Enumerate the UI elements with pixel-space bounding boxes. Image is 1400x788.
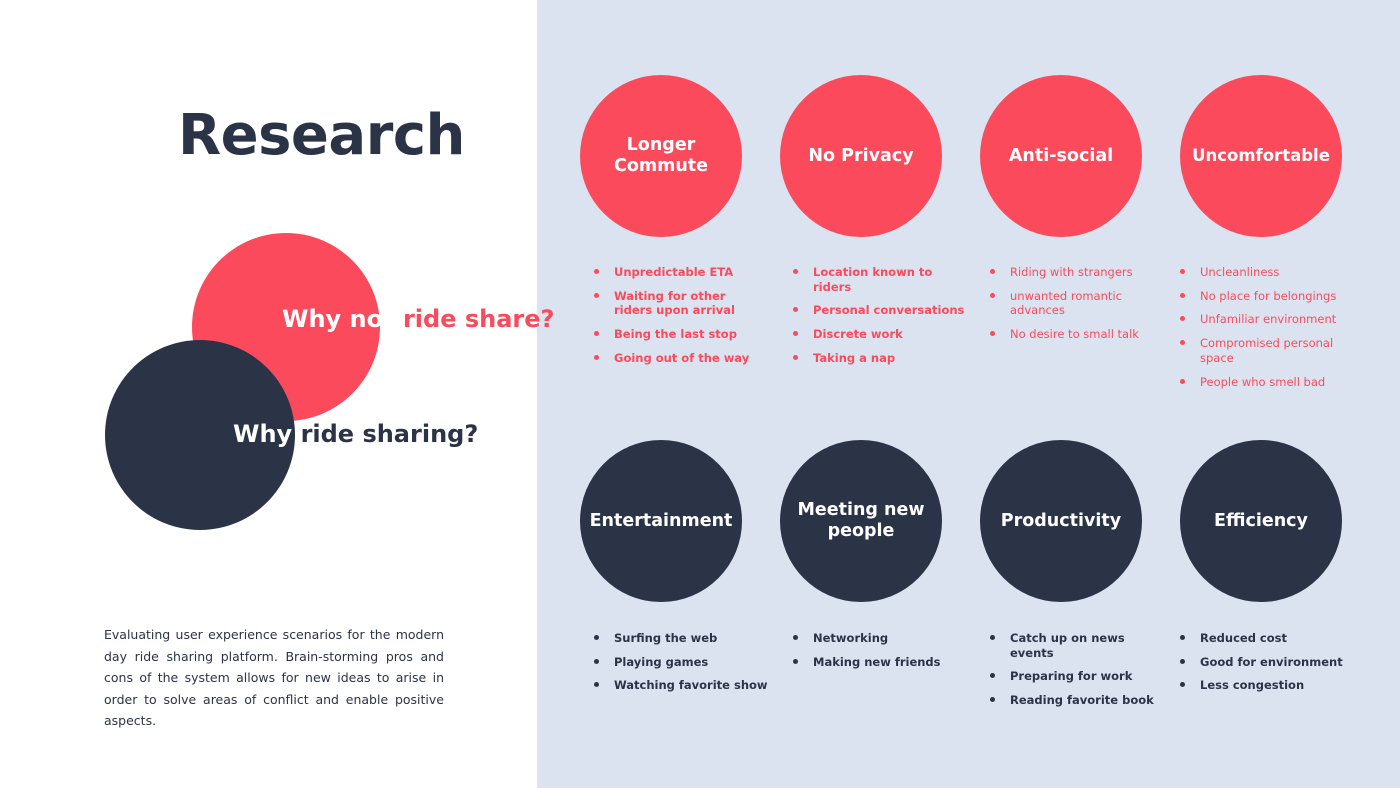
bubble-label: Longer Commute <box>580 135 742 177</box>
bubble-meeting-new-people[interactable]: Meeting new people <box>780 440 942 602</box>
venn-circle-pros <box>105 340 295 530</box>
list-item: Unfamiliar environment <box>1180 312 1355 327</box>
list-item: Riding with strangers <box>990 265 1160 280</box>
list-item: Less congestion <box>1180 678 1360 693</box>
venn-diagram: Why not ride share? Why ride sharing? <box>0 0 537 600</box>
list-item: Catch up on news events <box>990 631 1170 660</box>
list-item: Going out of the way <box>594 351 764 366</box>
bubble-longer-commute[interactable]: Longer Commute <box>580 75 742 237</box>
bubble-label: Productivity <box>993 511 1129 532</box>
pros-list-4: Reduced cost Good for environment Less c… <box>1180 631 1360 702</box>
list-item: Networking <box>793 631 968 646</box>
cons-list-4: Uncleanliness No place for belongings Un… <box>1180 265 1355 398</box>
list-item: Surfing the web <box>594 631 769 646</box>
venn-label-top-outside: ride share? <box>403 305 554 333</box>
list-item: Personal conversations <box>793 303 968 318</box>
venn-circle-cons <box>192 233 380 421</box>
list-item: Watching favorite show <box>594 678 769 693</box>
list-item: Discrete work <box>793 327 968 342</box>
venn-label-bottom-outside: ride sharing? <box>301 420 479 448</box>
list-item: Playing games <box>594 655 769 670</box>
bubble-productivity[interactable]: Productivity <box>980 440 1142 602</box>
list-item: Waiting for other riders upon arrival <box>594 289 764 318</box>
venn-label-top-inside: Why not <box>282 305 395 333</box>
pros-list-1: Surfing the web Playing games Watching f… <box>594 631 769 702</box>
bubble-label: Efficiency <box>1206 511 1316 532</box>
bubble-entertainment[interactable]: Entertainment <box>580 440 742 602</box>
description-paragraph: Evaluating user experience scenarios for… <box>104 624 444 732</box>
bubble-label: Anti-social <box>1001 146 1121 167</box>
list-item: unwanted romantic advances <box>990 289 1160 318</box>
list-item: Being the last stop <box>594 327 764 342</box>
list-item: No place for belongings <box>1180 289 1355 304</box>
bubble-uncomfortable[interactable]: Uncomfortable <box>1180 75 1342 237</box>
list-item: Good for environment <box>1180 655 1360 670</box>
bubble-label: Meeting new people <box>780 500 942 542</box>
bubble-anti-social[interactable]: Anti-social <box>980 75 1142 237</box>
venn-label-why-ride-sharing: Why ride sharing? <box>233 422 478 446</box>
list-item: Unpredictable ETA <box>594 265 764 280</box>
list-item: Reduced cost <box>1180 631 1360 646</box>
list-item: People who smell bad <box>1180 375 1355 390</box>
cons-list-1: Unpredictable ETA Waiting for other ride… <box>594 265 764 375</box>
pros-list-3: Catch up on news events Preparing for wo… <box>990 631 1170 717</box>
cons-list-2: Location known to riders Personal conver… <box>793 265 968 375</box>
left-panel: Research Why not ride share? Why ride sh… <box>0 0 537 788</box>
bubble-label: No Privacy <box>800 146 921 167</box>
list-item: Taking a nap <box>793 351 968 366</box>
list-item: Making new friends <box>793 655 968 670</box>
right-panel: Longer Commute Unpredictable ETA Waiting… <box>537 0 1400 788</box>
venn-label-why-not-ride-share: Why not ride share? <box>282 307 554 331</box>
list-item: Location known to riders <box>793 265 968 294</box>
list-item: Compromised personal space <box>1180 336 1355 365</box>
page-title: Research <box>178 108 465 164</box>
list-item: Uncleanliness <box>1180 265 1355 280</box>
list-item: Reading favorite book <box>990 693 1170 708</box>
bubble-no-privacy[interactable]: No Privacy <box>780 75 942 237</box>
list-item: No desire to small talk <box>990 327 1160 342</box>
infographic-page: Research Why not ride share? Why ride sh… <box>0 0 1400 788</box>
cons-list-3: Riding with strangers unwanted romantic … <box>990 265 1160 351</box>
pros-list-2: Networking Making new friends <box>793 631 968 678</box>
list-item: Preparing for work <box>990 669 1170 684</box>
bubble-label: Entertainment <box>582 511 741 532</box>
venn-label-bottom-inside: Why <box>233 420 292 448</box>
bubble-label: Uncomfortable <box>1184 146 1338 166</box>
bubble-efficiency[interactable]: Efficiency <box>1180 440 1342 602</box>
